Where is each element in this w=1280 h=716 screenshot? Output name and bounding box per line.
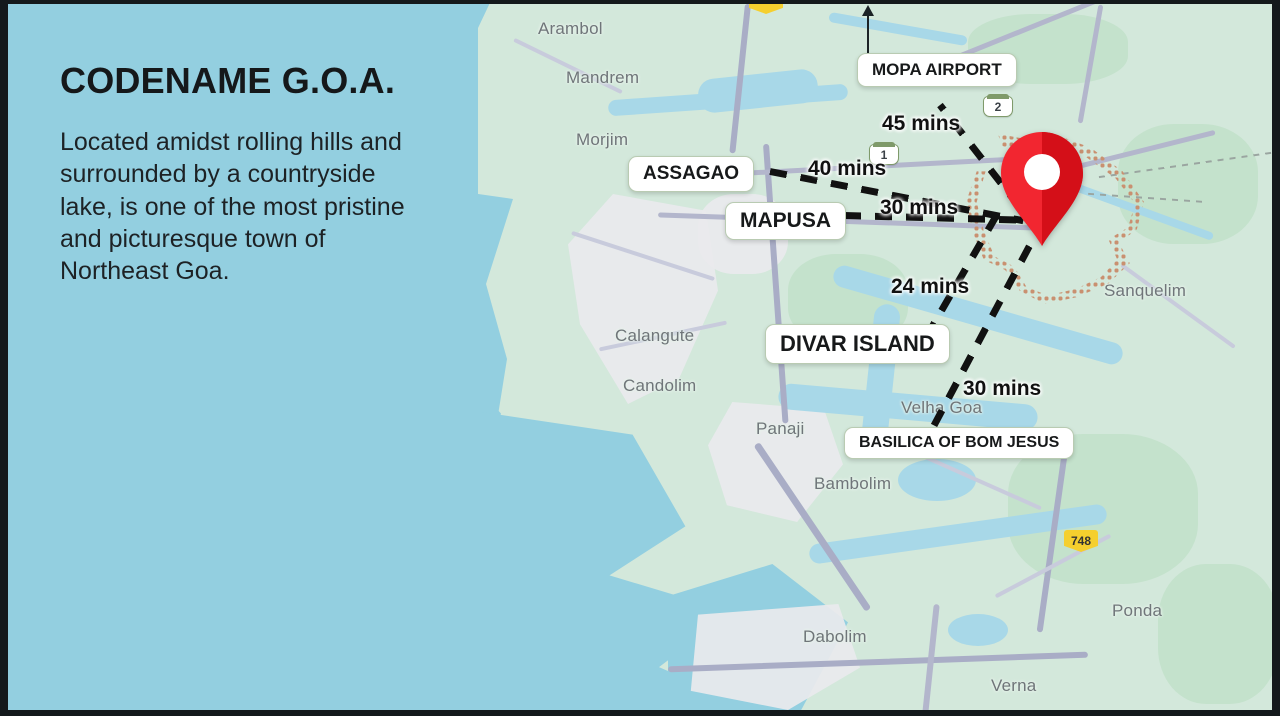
place-label-morjim: Morjim [576,130,628,150]
place-label-panaji: Panaji [756,419,804,439]
pill-mapusa-label: MAPUSA [740,209,831,232]
pill-divar-island-label: DIVAR ISLAND [780,331,935,356]
pill-divar-island[interactable]: DIVAR ISLAND [765,324,950,364]
lake-bambolim [898,459,976,501]
place-label-ponda: Ponda [1112,601,1162,621]
travel-time-mapusa: 30 mins [880,196,958,220]
frame-border-bottom [0,710,1280,716]
highway-shield-2: 2 [983,96,1013,117]
place-label-calangute: Calangute [615,326,694,346]
place-label-bambolim: Bambolim [814,474,891,494]
frame-border-left [0,0,8,716]
slide-canvas: Arambol Mandrem Morjim Calangute Candoli… [0,0,1280,716]
page-title: CODENAME G.O.A. [60,60,426,102]
mopa-airport-arrow-icon [867,14,869,54]
travel-time-assagao: 40 mins [808,157,886,181]
travel-time-divar-island: 24 mins [891,275,969,299]
pill-mopa-airport-label: MOPA AIRPORT [872,60,1002,79]
info-panel: CODENAME G.O.A. Located amidst rolling h… [8,4,478,710]
travel-time-mopa-airport: 45 mins [882,112,960,136]
place-label-candolim: Candolim [623,376,696,396]
place-label-verna: Verna [991,676,1036,696]
pill-assagao[interactable]: ASSAGAO [628,156,754,192]
place-label-mandrem: Mandrem [566,68,639,88]
pill-mopa-airport[interactable]: MOPA AIRPORT [857,53,1017,87]
panel-description: Located amidst rolling hills and surroun… [60,126,426,287]
project-location-pin[interactable] [998,130,1086,248]
pill-basilica-of-bom-jesus-label: BASILICA OF BOM JESUS [859,434,1059,451]
frame-border-top [0,0,1280,4]
travel-time-basilica: 30 mins [963,377,1041,401]
place-label-dabolim: Dabolim [803,627,867,647]
place-label-sanquelim: Sanquelim [1104,281,1186,301]
pill-basilica-of-bom-jesus[interactable]: BASILICA OF BOM JESUS [844,427,1074,459]
forest-patch-5 [1158,564,1272,704]
highway-shield-748-label: 748 [1071,534,1091,548]
pill-mapusa[interactable]: MAPUSA [725,202,846,240]
lake-small-1 [948,614,1008,646]
place-label-arambol: Arambol [538,19,603,39]
frame-border-right [1272,0,1280,716]
pill-assagao-label: ASSAGAO [643,163,739,184]
highway-shield-2-label: 2 [995,100,1002,114]
